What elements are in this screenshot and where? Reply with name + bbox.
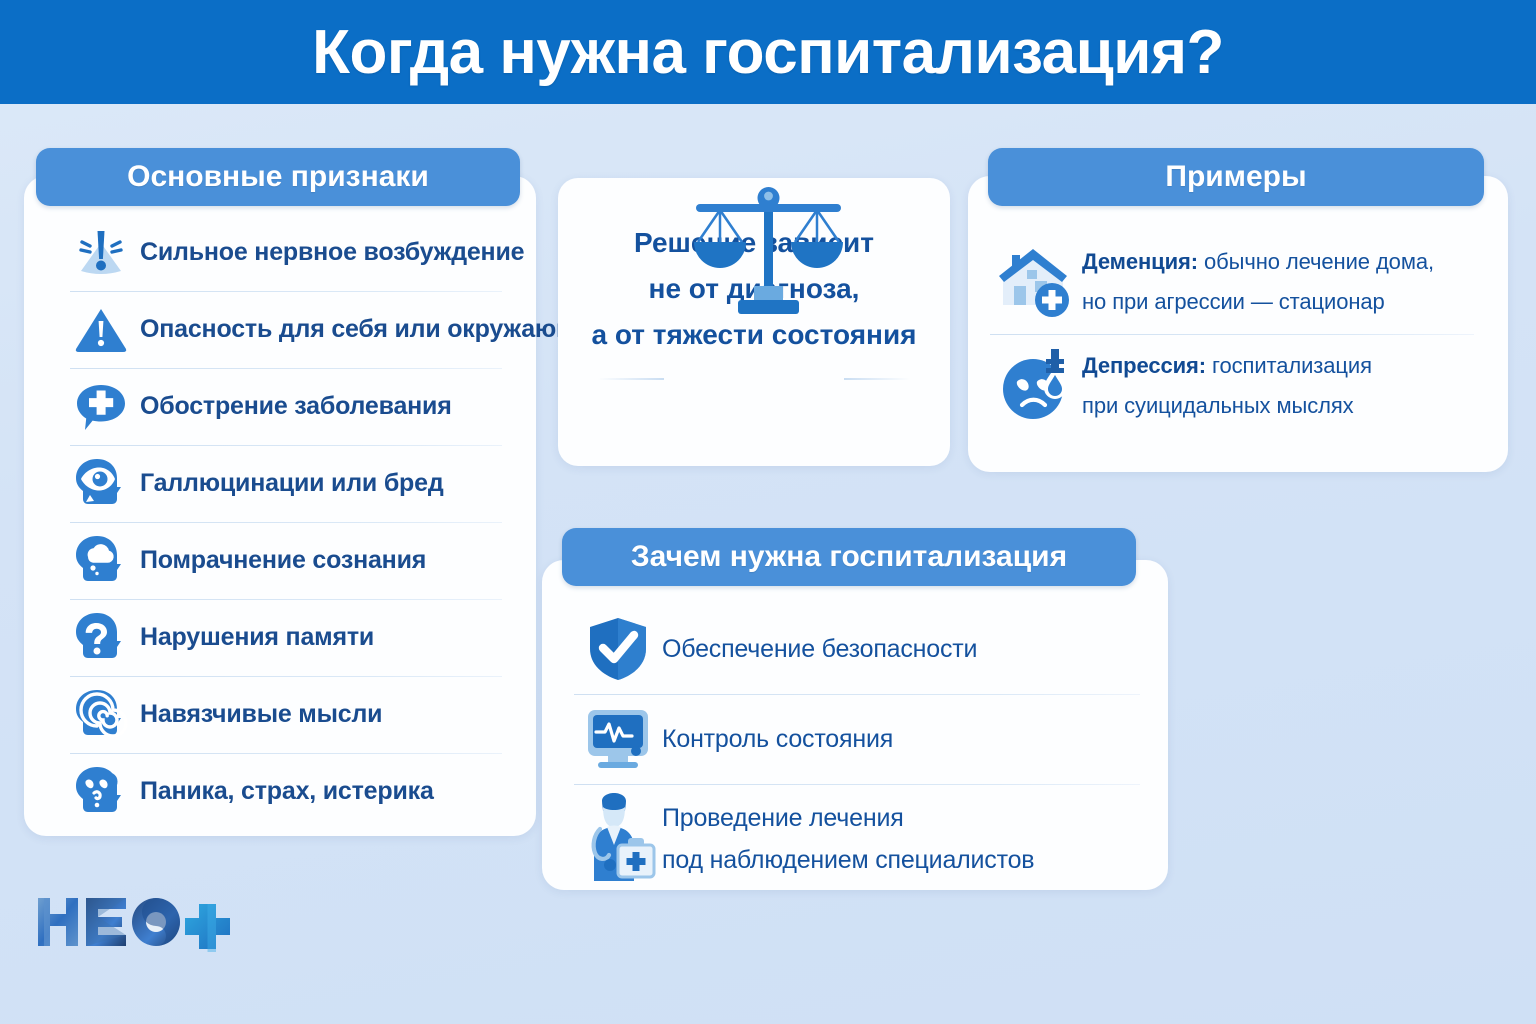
signs-panel-header: Основные признаки [36, 148, 520, 206]
signs-panel: Сильное нервное возбуждение Опасность дл… [24, 176, 536, 836]
list-item-label: Помрачнение сознания [140, 546, 426, 575]
list-item-label: Обострение заболевания [140, 392, 452, 421]
signs-heading-label: Основные признаки [127, 160, 429, 194]
list-item-label: Паника, страх, истерика [140, 777, 434, 806]
why-line-1: Проведение лечения [662, 804, 904, 832]
head-spiral-icon [70, 686, 132, 744]
list-item[interactable]: Обеспечение безопасности [574, 604, 1140, 694]
head-worried-face-icon [70, 763, 132, 821]
exclamation-burst-icon [70, 225, 132, 281]
list-item[interactable]: Сильное нервное возбуждение [70, 214, 494, 291]
why-line-2: под наблюдением специалистов [662, 846, 1034, 874]
example-detail: госпитализация [1206, 353, 1372, 378]
house-plus-icon [990, 243, 1082, 321]
decision-line-3: а от тяжести состояния [558, 312, 950, 358]
list-item[interactable]: Контроль состояния [574, 694, 1140, 784]
list-item[interactable]: Паника, страх, истерика [70, 753, 494, 830]
list-item[interactable]: Нарушения памяти [70, 599, 494, 676]
head-eye-icon [70, 455, 132, 513]
monitor-heartbeat-icon [574, 707, 662, 771]
list-item-label: Нарушения памяти [140, 623, 374, 652]
decision-divider-left [598, 378, 664, 380]
example-detail-line2: но при агрессии — стационар [1082, 289, 1385, 314]
sad-face-teardrop-icon [990, 347, 1082, 425]
list-item[interactable]: Деменция: обычно лечение дома, но при аг… [990, 230, 1474, 334]
header-banner: Когда нужна госпитализация? [0, 0, 1536, 104]
head-question-icon [70, 609, 132, 667]
shield-check-icon [574, 615, 662, 683]
head-cloud-icon [70, 532, 132, 590]
list-item[interactable]: Опасность для себя или окружающих [70, 291, 494, 368]
warning-triangle-icon [70, 302, 132, 358]
list-item[interactable]: Депрессия: госпитализация при суицидальн… [990, 334, 1474, 438]
examples-list: Деменция: обычно лечение дома, но при аг… [968, 230, 1508, 438]
list-item-label: Контроль состояния [662, 718, 893, 760]
list-item-text: Депрессия: госпитализация при суицидальн… [1082, 346, 1372, 426]
why-panel-header: Зачем нужна госпитализация [562, 528, 1136, 586]
list-item-label: Галлюцинации или бред [140, 469, 444, 498]
why-panel: Обеспечение безопасности Контроль состоя… [542, 560, 1168, 890]
balance-scales-icon [668, 176, 868, 316]
list-item-label: Обеспечение безопасности [662, 628, 977, 670]
neo-plus-logo [36, 892, 246, 954]
example-detail: обычно лечение дома, [1198, 249, 1434, 274]
list-item[interactable]: Помрачнение сознания [70, 522, 494, 599]
list-item-label: Опасность для себя или окружающих [140, 315, 606, 344]
examples-heading-label: Примеры [1165, 160, 1306, 194]
list-item-label: Сильное нервное возбуждение [140, 238, 524, 267]
example-detail-line2: при суицидальных мыслях [1082, 393, 1354, 418]
example-term: Деменция: [1082, 249, 1198, 274]
examples-panel-header: Примеры [988, 148, 1484, 206]
examples-panel: Деменция: обычно лечение дома, но при аг… [968, 176, 1508, 472]
list-item[interactable]: Проведение лечения под наблюдением специ… [574, 784, 1140, 894]
example-term: Депрессия: [1082, 353, 1206, 378]
speech-bubble-cross-icon [70, 379, 132, 435]
list-item[interactable]: Галлюцинации или бред [70, 445, 494, 522]
list-item[interactable]: Навязчивые мысли [70, 676, 494, 753]
why-list: Обеспечение безопасности Контроль состоя… [542, 604, 1168, 894]
list-item-label: Навязчивые мысли [140, 700, 382, 729]
page-title: Когда нужна госпитализация? [312, 17, 1224, 88]
doctor-icon [574, 793, 662, 885]
decision-divider-right [844, 378, 910, 380]
signs-list: Сильное нервное возбуждение Опасность дл… [24, 214, 536, 830]
why-heading-label: Зачем нужна госпитализация [631, 540, 1067, 574]
list-item-text: Деменция: обычно лечение дома, но при аг… [1082, 242, 1434, 322]
list-item-label: Проведение лечения под наблюдением специ… [662, 797, 1034, 881]
list-item[interactable]: Обострение заболевания [70, 368, 494, 445]
